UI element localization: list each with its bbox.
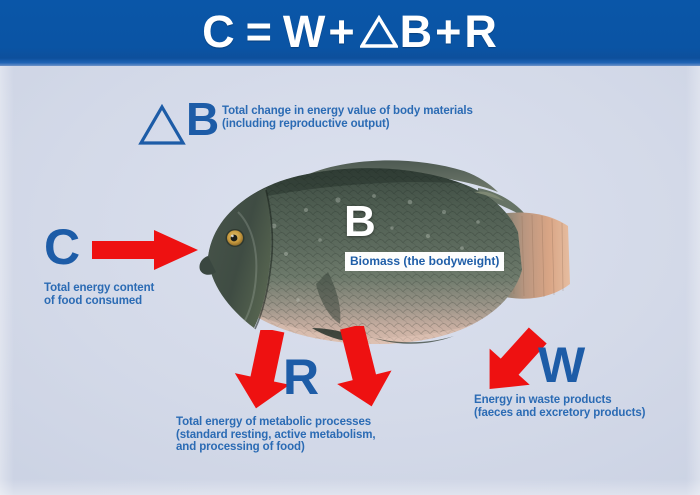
equation-token-r: R bbox=[464, 9, 498, 54]
r-letter: R bbox=[283, 352, 319, 402]
r-caption: Total energy of metabolic processes (sta… bbox=[176, 416, 486, 454]
equation-token-plus-2: + bbox=[435, 9, 462, 54]
c-letter: C bbox=[44, 222, 80, 272]
equation-token-b: B bbox=[400, 9, 434, 54]
delta-b-caption: Total change in energy value of body mat… bbox=[222, 105, 622, 130]
delta-triangle-outline-icon bbox=[138, 104, 186, 146]
delta-b-letter: B bbox=[186, 96, 219, 142]
red-arrow-right-icon bbox=[92, 228, 200, 272]
equation-banner-text: C = W + B + R bbox=[201, 9, 499, 54]
b-letter: B bbox=[344, 200, 376, 244]
c-caption: Total energy content of food consumed bbox=[44, 282, 234, 307]
equation-token-equals: = bbox=[246, 9, 273, 54]
delta-triangle-icon bbox=[360, 15, 398, 49]
w-caption: Energy in waste products (faeces and exc… bbox=[474, 394, 700, 419]
equation-token-c: C bbox=[202, 9, 236, 54]
red-arrow-down-right-icon bbox=[324, 326, 396, 410]
b-caption: Biomass (the bodyweight) bbox=[345, 252, 504, 271]
equation-token-w: W bbox=[283, 9, 326, 54]
equation-token-plus-1: + bbox=[328, 9, 355, 54]
energy-budget-diagram: C = W + B + R B Total change in energy v… bbox=[0, 0, 700, 495]
equation-banner: C = W + B + R bbox=[0, 0, 700, 66]
w-letter: W bbox=[538, 340, 585, 390]
